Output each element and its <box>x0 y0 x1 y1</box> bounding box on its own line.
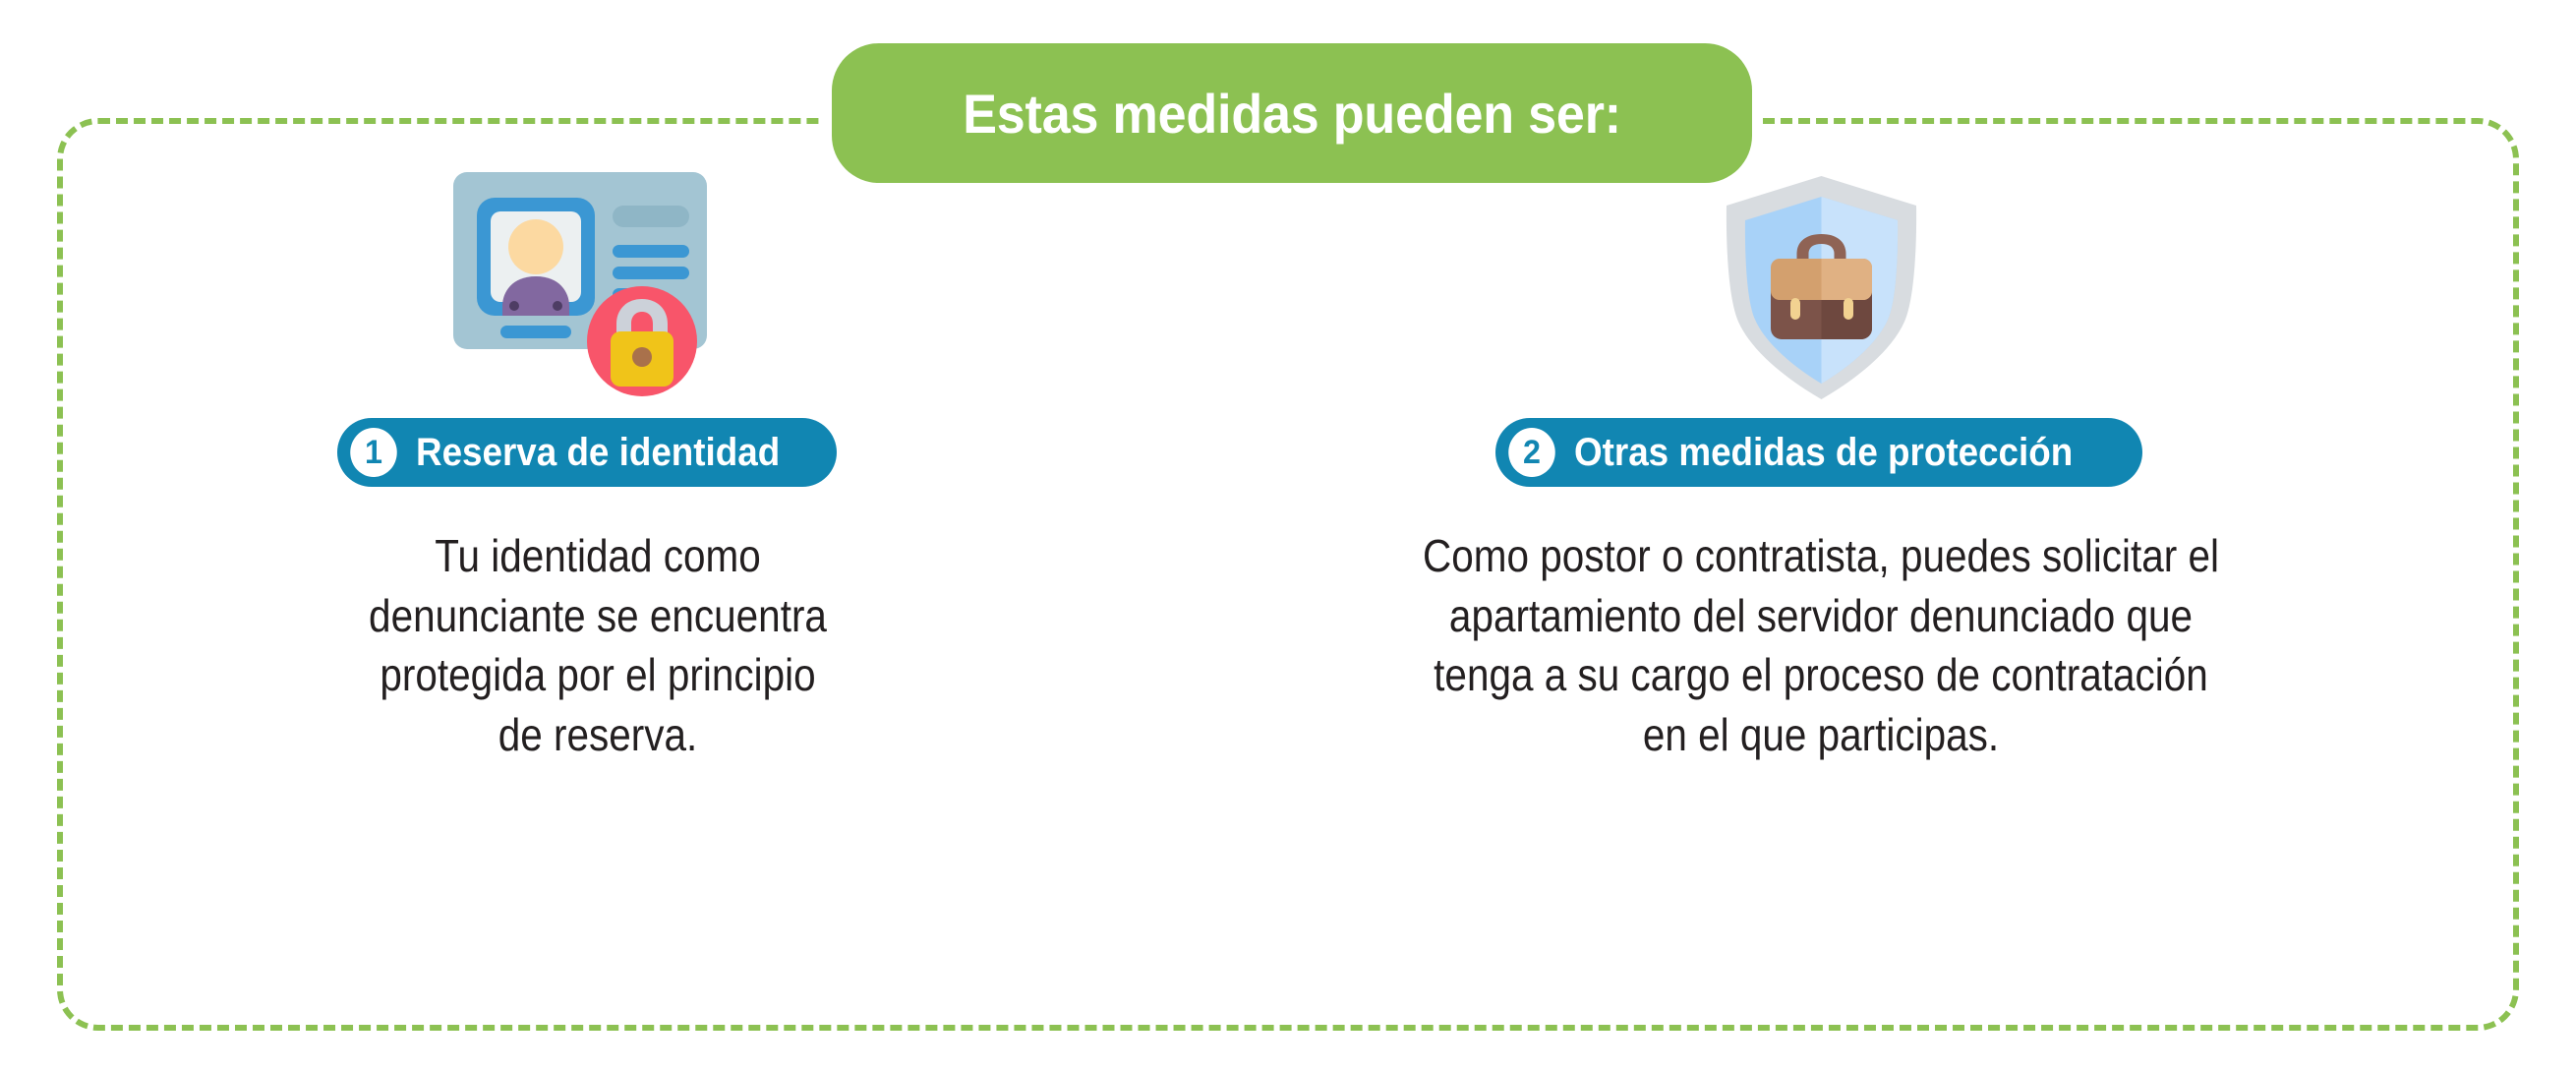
header-title: Estas medidas pueden ser: <box>963 82 1621 146</box>
columns-wrapper: 1 Reserva de identidad Tu identidad como… <box>57 157 2519 1023</box>
shield-briefcase-glyph <box>1716 172 1927 403</box>
paragraph-1-line: de reserva. <box>234 705 961 765</box>
badge-label-1: Reserva de identidad <box>416 431 780 475</box>
paragraph-1: Tu identidad como denunciante se encuent… <box>234 526 961 765</box>
badge-label-2: Otras medidas de protección <box>1574 431 2073 475</box>
paragraph-2-line: tenga a su cargo el proceso de contratac… <box>1206 645 2435 705</box>
shield-briefcase-icon <box>1683 157 1959 418</box>
paragraph-2-line: apartamiento del servidor denunciado que <box>1206 586 2435 646</box>
badge-number-2: 2 <box>1509 428 1556 477</box>
paragraph-2: Como postor o contratista, puedes solici… <box>1206 526 2435 765</box>
badge-2[interactable]: 2 Otras medidas de protección <box>1495 418 2141 487</box>
measure-column-2: 2 Otras medidas de protección Como posto… <box>1099 157 2519 1023</box>
id-card-lock-glyph <box>436 162 760 413</box>
infographic-root: Estas medidas pueden ser: <box>0 0 2576 1072</box>
measure-column-1: 1 Reserva de identidad Tu identidad como… <box>57 157 1099 1023</box>
paragraph-1-line: Tu identidad como <box>234 526 961 586</box>
paragraph-1-line: protegida por el principio <box>234 645 961 705</box>
paragraph-1-line: denunciante se encuentra <box>234 586 961 646</box>
badge-1[interactable]: 1 Reserva de identidad <box>337 418 837 487</box>
paragraph-2-line: Como postor o contratista, puedes solici… <box>1206 526 2435 586</box>
id-card-lock-icon <box>386 157 809 418</box>
paragraph-2-line: en el que participas. <box>1206 705 2435 765</box>
badge-number-1: 1 <box>350 428 397 477</box>
